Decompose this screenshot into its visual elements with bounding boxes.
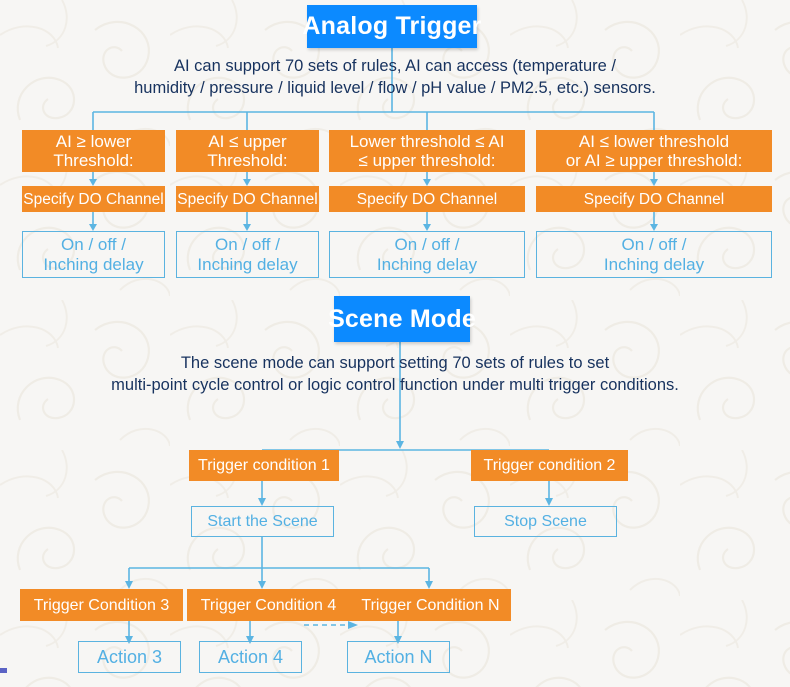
- scene-sub-trigger-3: Trigger Condition 3: [20, 589, 183, 621]
- analog-condition-box-1: AI ≥ lower Threshold:: [22, 130, 165, 172]
- scene-mode-description: The scene mode can support setting 70 se…: [45, 352, 745, 396]
- analog-trigger-description: AI can support 70 sets of rules, AI can …: [45, 55, 745, 99]
- scene-action-label-n: Action N: [364, 647, 432, 667]
- analog-condition-label-3: Lower threshold ≤ AI ≤ upper threshold:: [350, 132, 505, 170]
- analog-channel-box-3: Specify DO Channel: [329, 186, 525, 212]
- scene-mode-header: Scene Mode: [334, 296, 470, 342]
- scene-action-box-4: Action 4: [199, 641, 302, 673]
- scene-sub-trigger-4: Trigger Condition 4: [187, 589, 350, 621]
- scene-stop-box: Stop Scene: [474, 506, 617, 537]
- analog-condition-box-3: Lower threshold ≤ AI ≤ upper threshold:: [329, 130, 525, 172]
- analog-condition-label-2: AI ≤ upper Threshold:: [207, 132, 287, 170]
- analog-channel-box-2: Specify DO Channel: [176, 186, 319, 212]
- scene-sub-trigger-4-label: Trigger Condition 4: [201, 596, 336, 615]
- analog-action-label-2: On / off / Inching delay: [197, 235, 297, 275]
- scene-action-label-4: Action 4: [218, 647, 283, 667]
- scene-trigger-condition-2-label: Trigger condition 2: [484, 456, 616, 475]
- analog-action-label-4: On / off / Inching delay: [604, 235, 704, 275]
- analog-trigger-header: Analog Trigger: [307, 5, 477, 48]
- scene-start-box: Start the Scene: [191, 506, 334, 537]
- analog-channel-label-1: Specify DO Channel: [23, 190, 163, 209]
- scene-stop-label: Stop Scene: [504, 512, 587, 532]
- scene-start-label: Start the Scene: [207, 512, 317, 532]
- scene-action-label-3: Action 3: [97, 647, 162, 667]
- analog-channel-label-2: Specify DO Channel: [177, 190, 317, 209]
- analog-channel-box-4: Specify DO Channel: [536, 186, 772, 212]
- analog-action-box-1: On / off / Inching delay: [22, 231, 165, 278]
- scene-trigger-condition-1-label: Trigger condition 1: [198, 456, 330, 475]
- background-watermark: [0, 0, 790, 687]
- scene-trigger-condition-1: Trigger condition 1: [189, 450, 339, 481]
- scene-mode-title: Scene Mode: [328, 305, 476, 334]
- analog-action-label-1: On / off / Inching delay: [43, 235, 143, 275]
- analog-condition-box-4: AI ≤ lower threshold or AI ≥ upper thres…: [536, 130, 772, 172]
- connector-lines: [0, 0, 790, 687]
- scene-action-box-3: Action 3: [78, 641, 181, 673]
- scene-sub-trigger-3-label: Trigger Condition 3: [34, 596, 169, 615]
- analog-condition-box-2: AI ≤ upper Threshold:: [176, 130, 319, 172]
- scene-action-box-n: Action N: [347, 641, 450, 673]
- analog-channel-label-4: Specify DO Channel: [584, 190, 724, 209]
- corner-artifact: [0, 668, 7, 673]
- scene-sub-trigger-n: Trigger Condition N: [350, 589, 511, 621]
- analog-trigger-title: Analog Trigger: [302, 12, 481, 41]
- diagram-canvas: Analog Trigger AI can support 70 sets of…: [0, 0, 790, 687]
- analog-action-box-3: On / off / Inching delay: [329, 231, 525, 278]
- analog-condition-label-1: AI ≥ lower Threshold:: [53, 132, 133, 170]
- scene-trigger-condition-2: Trigger condition 2: [471, 450, 628, 481]
- analog-channel-box-1: Specify DO Channel: [22, 186, 165, 212]
- analog-channel-label-3: Specify DO Channel: [357, 190, 497, 209]
- scene-sub-trigger-n-label: Trigger Condition N: [361, 596, 499, 615]
- analog-action-label-3: On / off / Inching delay: [377, 235, 477, 275]
- analog-action-box-2: On / off / Inching delay: [176, 231, 319, 278]
- analog-action-box-4: On / off / Inching delay: [536, 231, 772, 278]
- analog-condition-label-4: AI ≤ lower threshold or AI ≥ upper thres…: [566, 132, 743, 170]
